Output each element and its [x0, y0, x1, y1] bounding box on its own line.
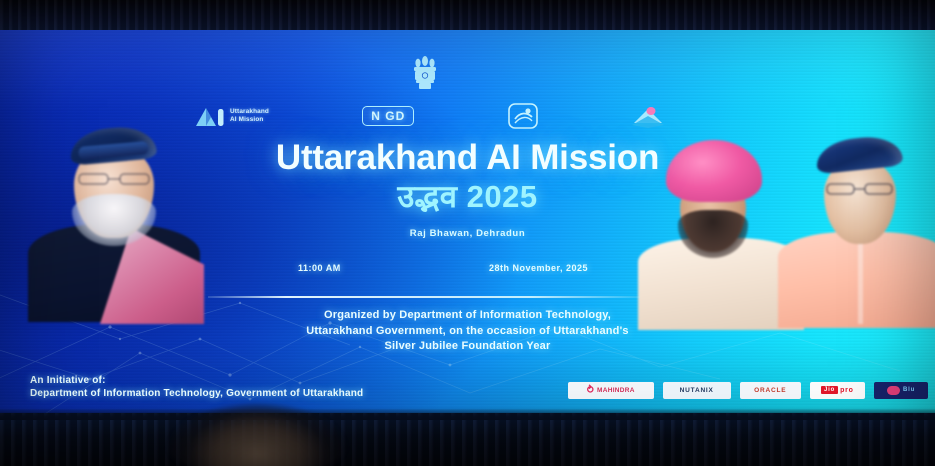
sponsor-partner: Blu [874, 382, 928, 399]
state-mountain-icon [631, 103, 665, 129]
mahindra-mark-icon: ⥁ [587, 385, 594, 396]
sponsor-oracle: ORACLE [740, 382, 801, 399]
initiative-line-2: Department of Information Technology, Go… [30, 387, 363, 400]
schedule-row: 11:00 AM 28th November, 2025 [298, 263, 588, 273]
organized-by-line-2: Uttarakhand Government, on the occasion … [0, 324, 935, 340]
digital-india-icon [508, 103, 538, 129]
sponsor-jio-label: pro [840, 387, 854, 394]
negd-logo-text: N GD [362, 106, 414, 126]
partner-logo-row: Uttarakhand AI Mission N GD [195, 96, 665, 136]
sponsor-mahindra-label: MAHINDRA [597, 387, 635, 394]
sponsor-nutanix: NUTANIX [663, 382, 731, 399]
screenshot-stage: Uttarakhand AI Mission N GD [0, 0, 935, 466]
organized-by-line-3: Silver Jubilee Foundation Year [0, 339, 935, 355]
ai-mountain-icon [195, 104, 225, 128]
uttarakhand-state-logo [631, 103, 665, 129]
initiative-block: An Initiative of: Department of Informat… [30, 374, 363, 400]
organized-by-line-1: Organized by Department of Information T… [0, 308, 935, 324]
sponsor-jio-badge: Jio [821, 386, 838, 394]
organized-by-block: Organized by Department of Information T… [0, 308, 935, 355]
sponsor-jio: Jio pro [810, 382, 865, 399]
negd-logo: N GD [362, 106, 414, 126]
event-headline: Uttarakhand AI Mission उद्भव 2025 [0, 138, 935, 216]
headline-english: Uttarakhand AI Mission [0, 138, 935, 178]
initiative-line-1: An Initiative of: [30, 374, 363, 387]
ai-mission-logo-caption: Uttarakhand AI Mission [230, 108, 269, 123]
sponsor-partner-label: Blu [903, 387, 915, 393]
venue-text: Raj Bhawan, Dehradun [0, 228, 935, 239]
national-emblem-icon [409, 52, 441, 94]
sponsor-nutanix-label: NUTANIX [680, 387, 714, 394]
event-date: 28th November, 2025 [489, 263, 588, 273]
uttarakhand-ai-mission-logo: Uttarakhand AI Mission [195, 104, 269, 128]
event-time: 11:00 AM [298, 263, 341, 273]
stage-foreground-bottom [0, 413, 935, 466]
sponsor-oracle-label: ORACLE [754, 387, 786, 394]
stage-backdrop-top [0, 0, 935, 30]
headline-hindi: उद्भव 2025 [0, 178, 935, 216]
digital-india-logo [508, 103, 538, 129]
partner-mark-icon [887, 386, 900, 395]
sponsor-mahindra: ⥁ MAHINDRA [568, 382, 654, 399]
sponsor-logo-strip: ⥁ MAHINDRA NUTANIX ORACLE Jio pro Blu [568, 379, 928, 401]
section-divider [208, 296, 640, 298]
